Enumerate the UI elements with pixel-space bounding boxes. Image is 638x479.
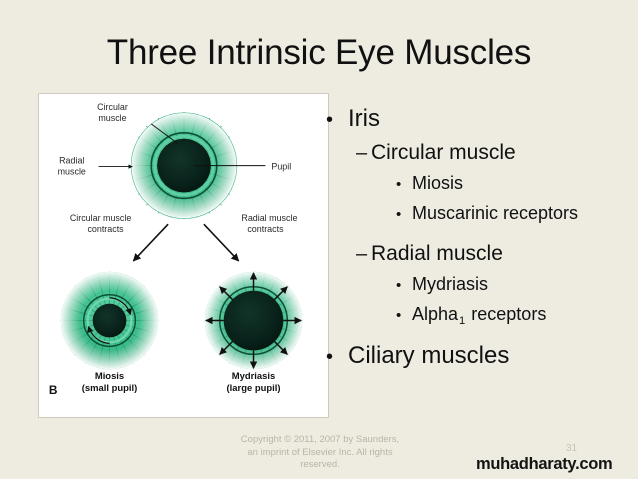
list-item-circular-muscle: – Circular muscle bbox=[356, 139, 634, 167]
copyright-line-3: reserved. bbox=[204, 459, 436, 472]
list-item-label: Miosis bbox=[412, 171, 634, 196]
bullet-glyph: • bbox=[326, 342, 348, 372]
label-circular-muscle-line1: Circular bbox=[97, 102, 128, 112]
list-item-label: Alpha1 receptors bbox=[412, 302, 634, 334]
bullet-glyph: • bbox=[396, 172, 412, 197]
list-item-mydriasis: • Mydriasis bbox=[396, 272, 634, 298]
list-item-miosis: • Miosis bbox=[396, 171, 634, 197]
bullet-glyph: • bbox=[396, 202, 412, 227]
label-circular-contracts-line1: Circular muscle bbox=[70, 213, 132, 223]
copyright-line-1: Copyright © 2011, 2007 by Saunders, bbox=[204, 434, 436, 447]
alpha-subscript: 1 bbox=[458, 315, 466, 327]
eye-muscle-diagram-panel: Circular muscle Radial muscle Pupil Circ… bbox=[38, 93, 329, 418]
eye-diagram-svg: Circular muscle Radial muscle Pupil Circ… bbox=[39, 94, 328, 417]
receptors-text: receptors bbox=[471, 304, 546, 324]
list-item-label: Ciliary muscles bbox=[348, 341, 634, 371]
page-number: 31 bbox=[566, 443, 577, 454]
label-radial-muscle-line1: Radial bbox=[59, 156, 84, 166]
list-item-label: Circular muscle bbox=[371, 139, 634, 166]
dash-glyph: – bbox=[356, 140, 371, 167]
copyright-notice: Copyright © 2011, 2007 by Saunders, an i… bbox=[204, 434, 436, 472]
site-watermark: muhadharaty.com bbox=[476, 455, 612, 474]
bullet-glyph: • bbox=[396, 273, 412, 298]
list-item-ciliary-muscles: • Ciliary muscles bbox=[326, 341, 634, 372]
list-item-label: Radial muscle bbox=[371, 240, 634, 267]
page-title: Three Intrinsic Eye Muscles bbox=[0, 34, 638, 73]
list-item-iris: • Iris bbox=[326, 104, 634, 135]
list-item-alpha1-receptors: • Alpha1 receptors bbox=[396, 302, 634, 334]
label-radial-muscle-line2: muscle bbox=[58, 167, 86, 177]
label-radial-contracts-line1: Radial muscle bbox=[241, 213, 297, 223]
label-circular-contracts-line2: contracts bbox=[87, 224, 124, 234]
alpha-text: Alpha bbox=[412, 304, 458, 324]
caption-miosis-line2: (small pupil) bbox=[82, 382, 138, 393]
caption-miosis-line1: Miosis bbox=[95, 370, 124, 381]
figure-panel-letter: B bbox=[49, 383, 58, 397]
label-circular-muscle-line2: muscle bbox=[98, 113, 126, 123]
bullet-glyph: • bbox=[396, 303, 412, 328]
list-item-label: Mydriasis bbox=[412, 272, 634, 297]
copyright-line-2: an imprint of Elsevier Inc. All rights bbox=[204, 447, 436, 460]
caption-mydriasis-line1: Mydriasis bbox=[232, 370, 275, 381]
dash-glyph: – bbox=[356, 241, 371, 268]
outline-list: • Iris – Circular muscle • Miosis • Musc… bbox=[326, 104, 634, 373]
label-radial-contracts-line2: contracts bbox=[247, 224, 284, 234]
list-item-label: Iris bbox=[348, 104, 634, 134]
slide-canvas: Three Intrinsic Eye Muscles bbox=[0, 0, 638, 479]
label-pupil: Pupil bbox=[271, 162, 291, 172]
list-item-radial-muscle: – Radial muscle bbox=[356, 240, 634, 268]
bullet-glyph: • bbox=[326, 105, 348, 135]
list-item-label: Muscarinic receptors bbox=[412, 201, 634, 226]
list-item-muscarinic-receptors: • Muscarinic receptors bbox=[396, 201, 634, 227]
caption-mydriasis-line2: (large pupil) bbox=[227, 382, 281, 393]
